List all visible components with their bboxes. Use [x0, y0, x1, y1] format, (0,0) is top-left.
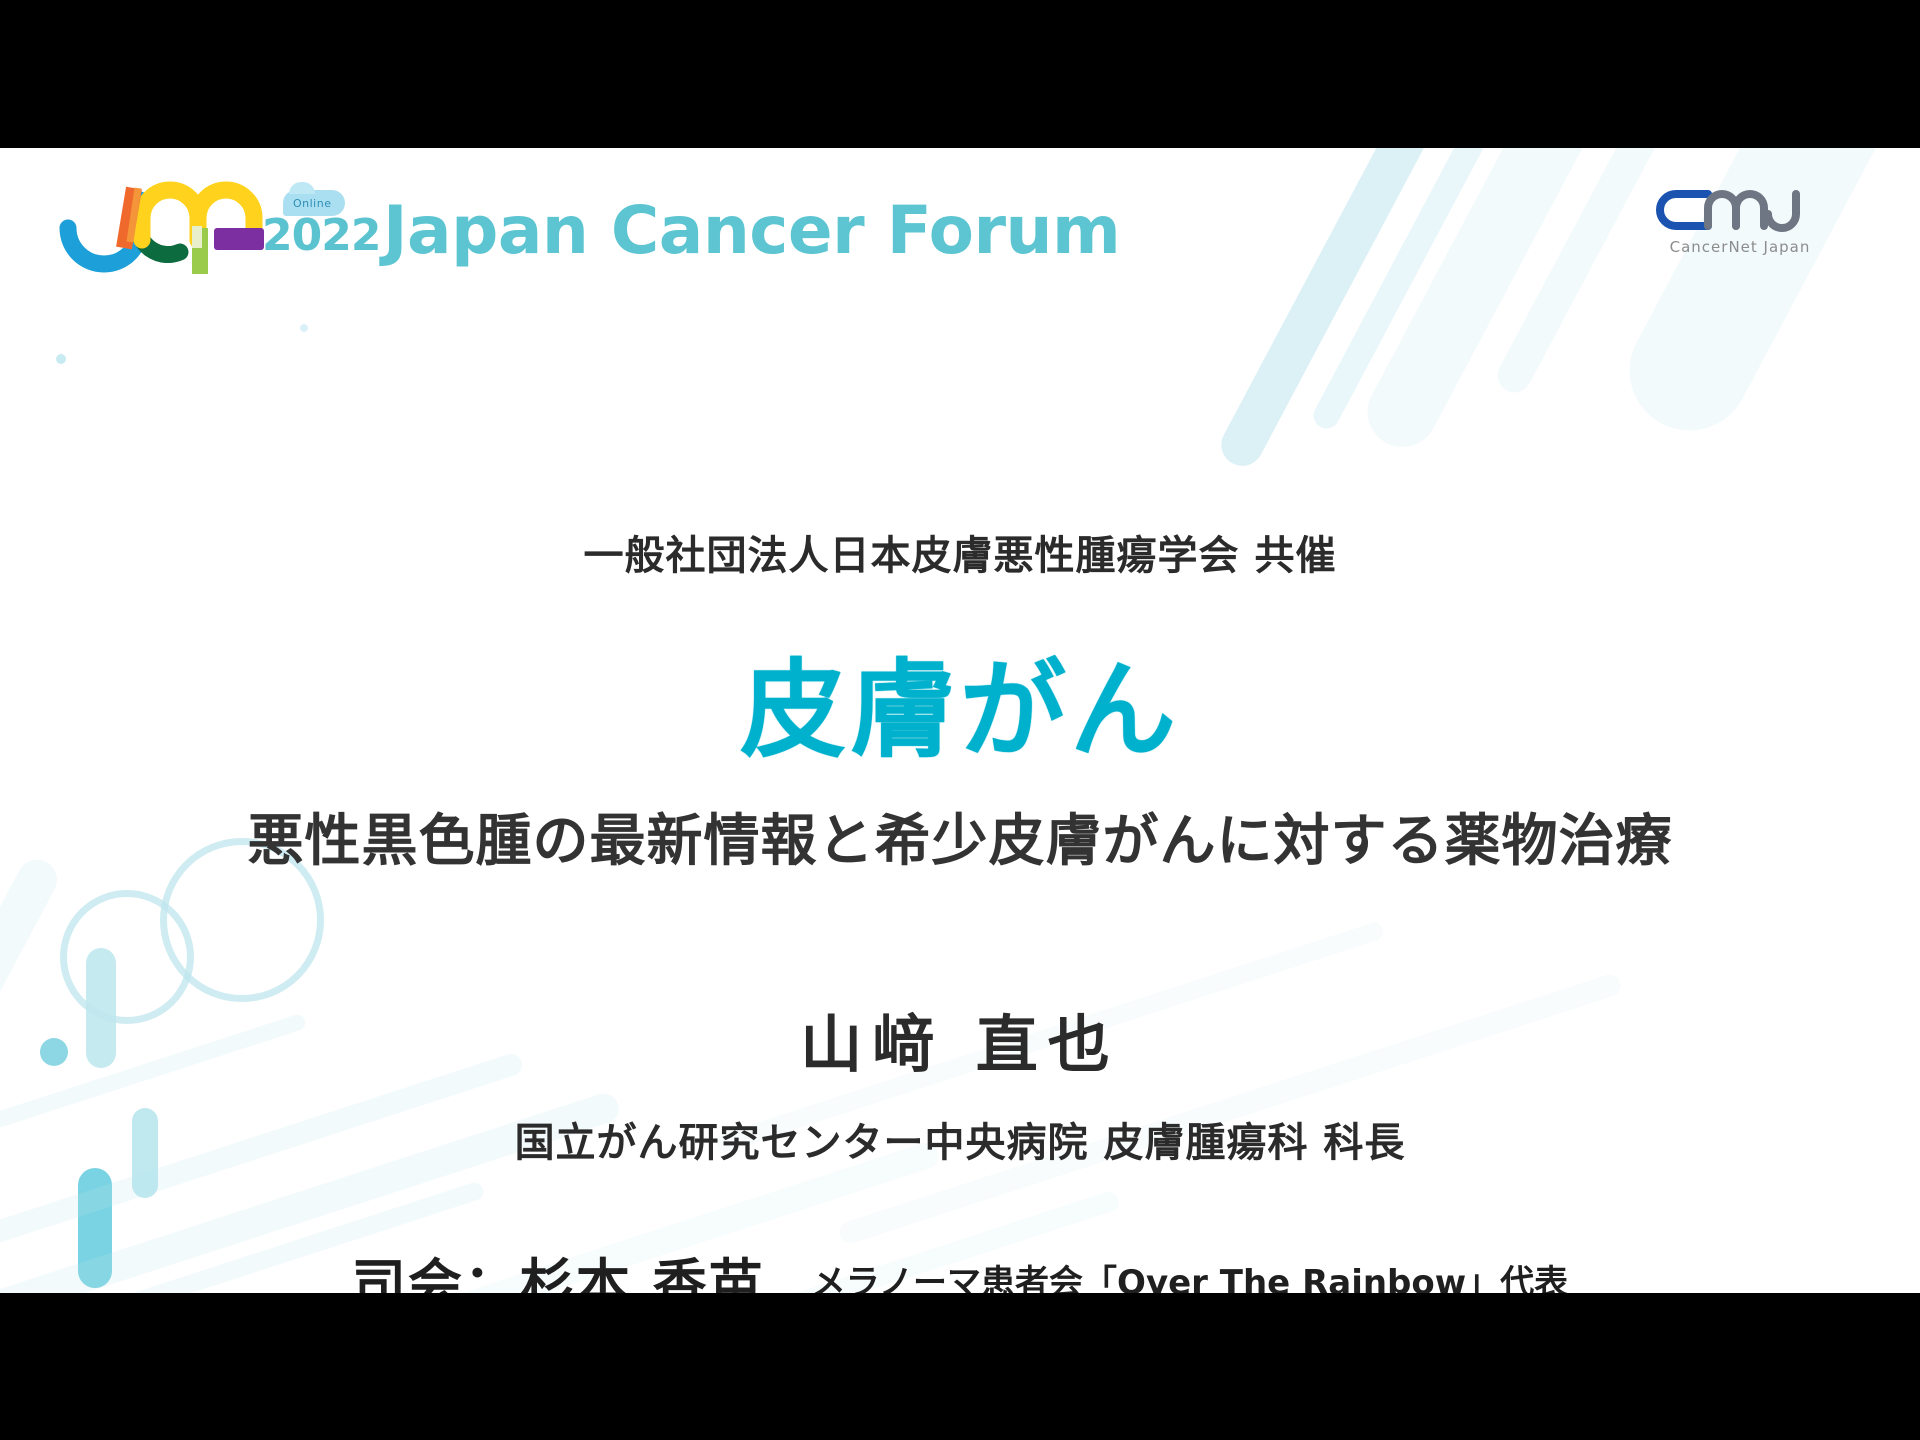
moderator-organization: メラノーマ患者会「Over The Rainbow」代表	[812, 1263, 1568, 1293]
letterbox-bottom	[0, 1293, 1920, 1440]
cancernet-japan-logo: CancerNet Japan	[1650, 182, 1830, 268]
presentation-slide: Online 2022 Japan Cancer Forum CancerNet…	[0, 148, 1920, 1293]
cnj-logo-label: CancerNet Japan	[1650, 238, 1830, 256]
slide-main-title: 皮膚がん	[0, 624, 1920, 778]
event-year: 2022	[262, 210, 380, 261]
video-frame: Online 2022 Japan Cancer Forum CancerNet…	[0, 0, 1920, 1440]
slide-header: Online 2022 Japan Cancer Forum CancerNet…	[0, 148, 1920, 298]
letterbox-top	[0, 0, 1920, 148]
speaker-name: 山﨑 直也	[0, 994, 1920, 1084]
cnj-mark-icon	[1650, 182, 1830, 238]
online-badge-label: Online	[293, 197, 331, 210]
cohost-line: 一般社団法人日本皮膚悪性腫瘍学会 共催	[0, 523, 1920, 581]
moderator-name: 司会：杉本 香苗	[352, 1253, 765, 1293]
event-title: Japan Cancer Forum	[383, 192, 1120, 269]
moderator-row: 司会：杉本 香苗 メラノーマ患者会「Over The Rainbow」代表	[0, 1240, 1920, 1293]
speaker-affiliation: 国立がん研究センター中央病院 皮膚腫瘍科 科長	[0, 1110, 1920, 1168]
slide-subtitle: 悪性黒色腫の最新情報と希少皮膚がんに対する薬物治療	[0, 796, 1920, 877]
